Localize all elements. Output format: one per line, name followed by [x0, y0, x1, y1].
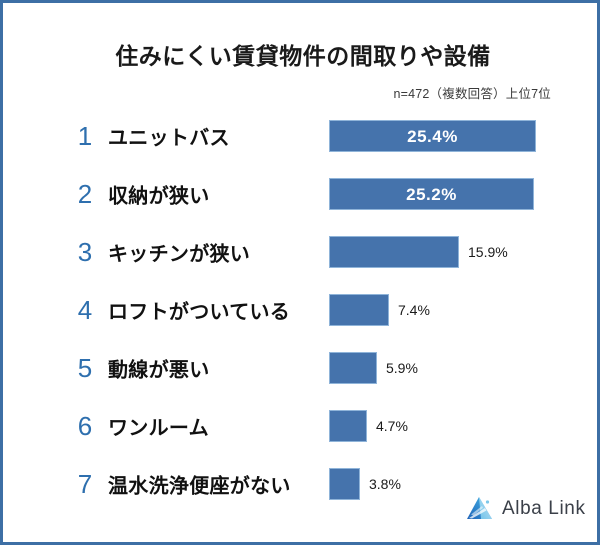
category-label: ロフトがついている [108, 296, 290, 325]
bar-row: 4ロフトがついている7.4% [3, 281, 600, 339]
category-label: 収納が狭い [108, 180, 210, 209]
bar [329, 236, 459, 268]
bar-value-label: 25.4% [330, 121, 535, 153]
bar [329, 352, 377, 384]
bar-value-label: 5.9% [386, 360, 418, 376]
rank-number: 4 [73, 297, 97, 323]
rank-number: 5 [73, 355, 97, 381]
category-label: ワンルーム [108, 412, 209, 441]
bar-row: 5動線が悪い5.9% [3, 339, 600, 397]
bar [329, 468, 360, 500]
bar-row: 3キッチンが狭い15.9% [3, 223, 600, 281]
chart-title: 住みにくい賃貸物件の間取りや設備 [3, 37, 600, 71]
bar [329, 294, 389, 326]
rank-number: 3 [73, 239, 97, 265]
bar-row: 1ユニットバス25.4% [3, 107, 600, 165]
mountain-triangle-icon [465, 495, 495, 523]
category-label: キッチンが狭い [108, 238, 250, 267]
bar-row: 6ワンルーム4.7% [3, 397, 600, 455]
bar-row: 2収納が狭い25.2% [3, 165, 600, 223]
bar-value-label: 7.4% [398, 302, 430, 318]
bar-value-label: 4.7% [376, 418, 408, 434]
rank-number: 7 [73, 471, 97, 497]
brand-logo-text: Alba Link [502, 498, 586, 520]
bar [329, 410, 367, 442]
chart-container: 住みにくい賃貸物件の間取りや設備 n=472（複数回答）上位7位 1ユニットバス… [0, 0, 600, 545]
bar-value-label: 3.8% [369, 476, 401, 492]
rank-number: 1 [73, 123, 97, 149]
category-label: 温水洗浄便座がない [108, 470, 291, 499]
rank-number: 2 [73, 181, 97, 207]
bar: 25.2% [329, 178, 534, 210]
bar-value-label: 15.9% [468, 244, 508, 260]
category-label: 動線が悪い [108, 354, 210, 383]
bar-rows: 1ユニットバス25.4%2収納が狭い25.2%3キッチンが狭い15.9%4ロフト… [3, 107, 600, 513]
bar-value-label: 25.2% [330, 179, 533, 211]
brand-logo: Alba Link [465, 492, 589, 526]
rank-number: 6 [73, 413, 97, 439]
chart-sample-note: n=472（複数回答）上位7位 [393, 83, 551, 102]
category-label: ユニットバス [108, 122, 230, 151]
bar: 25.4% [329, 120, 536, 152]
